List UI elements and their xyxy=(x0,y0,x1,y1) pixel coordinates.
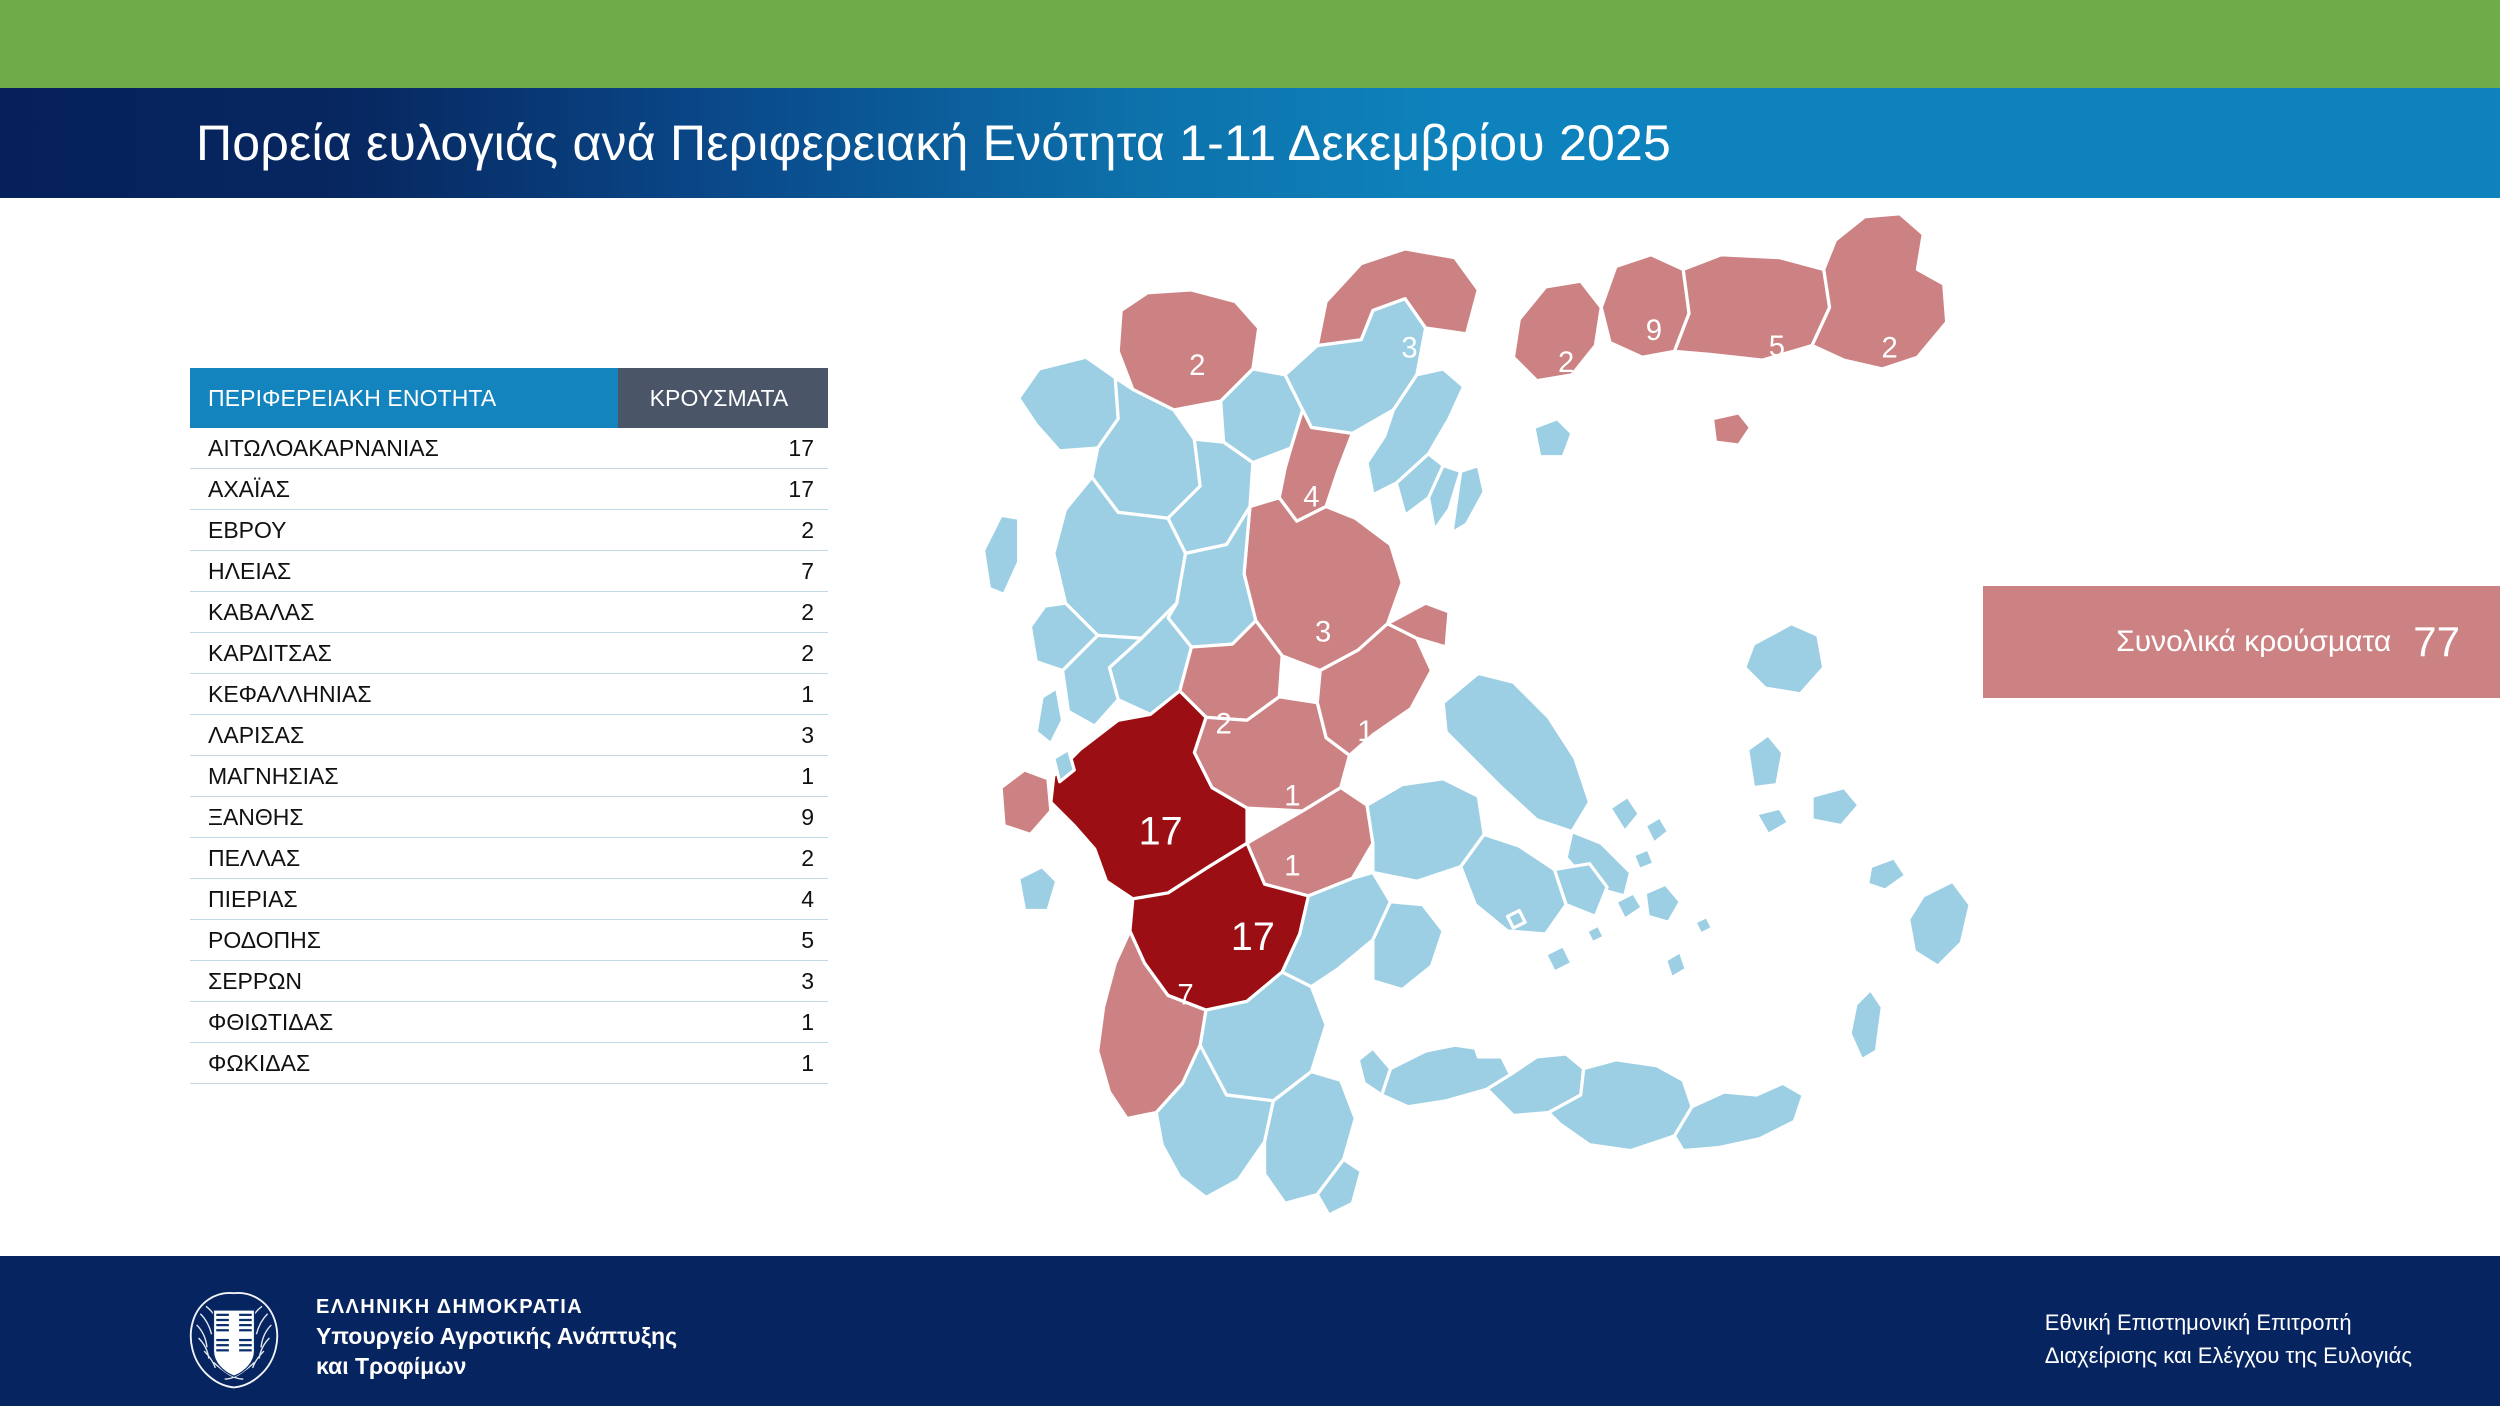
map-label-λαρισας: 3 xyxy=(1315,616,1331,648)
table-row: ΑΧΑΪΑΣ17 xyxy=(190,469,828,510)
cell-cases-count: 1 xyxy=(618,674,828,715)
table-row: ΠΙΕΡΙΑΣ4 xyxy=(190,879,828,920)
ministry-republic-line: ΕΛΛΗΝΙΚΗ ΔΗΜΟΚΡΑΤΙΑ xyxy=(316,1294,677,1321)
region-kyklades-naxos xyxy=(1645,884,1680,922)
region-kyklades-andros xyxy=(1610,796,1639,831)
map-label-σερρων: 3 xyxy=(1401,332,1417,364)
region-dodekanisou-kos xyxy=(1868,858,1906,890)
page-title: Πορεία ευλογιάς ανά Περιφερειακή Ενότητα… xyxy=(196,118,1671,168)
map-label-ξανθης: 9 xyxy=(1646,315,1662,347)
cell-region-name: ΠΙΕΡΙΑΣ xyxy=(190,879,618,920)
cell-cases-count: 1 xyxy=(618,1043,828,1084)
table-body: ΑΙΤΩΛΟΑΚΑΡΝΑΝΙΑΣ17ΑΧΑΪΑΣ17ΕΒΡΟΥ2ΗΛΕΙΑΣ7Κ… xyxy=(190,428,828,1084)
cell-region-name: ΦΩΚΙΔΑΣ xyxy=(190,1043,618,1084)
region-kyklades-paros xyxy=(1616,893,1642,919)
region-dodekanisou-rodos xyxy=(1909,881,1970,966)
table-row: ΣΕΡΡΩΝ3 xyxy=(190,961,828,1002)
ministry-branding: ΕΛΛΗΝΙΚΗ ΔΗΜΟΚΡΑΤΙΑ Υπουργείο Αγροτικής … xyxy=(178,1282,677,1394)
cell-region-name: ΦΘΙΩΤΙΔΑΣ xyxy=(190,1002,618,1043)
map-label-ροδοπης: 5 xyxy=(1769,331,1785,363)
table-row: ΞΑΝΘΗΣ9 xyxy=(190,797,828,838)
committee-text-block: Εθνική Επιστημονική Επιτροπή Διαχείρισης… xyxy=(2045,1306,2412,1372)
cell-region-name: ΚΕΦΑΛΛΗΝΙΑΣ xyxy=(190,674,618,715)
cell-cases-count: 3 xyxy=(618,715,828,756)
cell-region-name: ΕΒΡΟΥ xyxy=(190,510,618,551)
map-label-καρδιτσας: 2 xyxy=(1215,709,1231,741)
total-cases-badge: Συνολικά κρούσματα 77 xyxy=(1983,586,2500,698)
table-row: ΗΛΕΙΑΣ7 xyxy=(190,551,828,592)
greece-choropleth-map: 23295243211117177 xyxy=(930,205,2050,1215)
region-kyklades-tinos xyxy=(1645,817,1668,843)
total-cases-value: 77 xyxy=(2413,618,2460,666)
region-argolidas xyxy=(1373,902,1443,990)
region-samothraki-island xyxy=(1712,413,1750,445)
map-regions xyxy=(984,214,1971,1215)
region-rodopis xyxy=(1674,255,1829,360)
table-row: ΦΩΚΙΔΑΣ1 xyxy=(190,1043,828,1084)
region-lefkadas xyxy=(1036,688,1062,744)
cell-region-name: ΚΑΒΑΛΑΣ xyxy=(190,592,618,633)
map-label-αχαϊας: 17 xyxy=(1231,915,1275,959)
region-kyklades-syros xyxy=(1633,849,1653,869)
cell-cases-count: 5 xyxy=(618,920,828,961)
region-crete-west-tip xyxy=(1358,1048,1390,1095)
table-row: ΚΕΦΑΛΛΗΝΙΑΣ1 xyxy=(190,674,828,715)
cell-cases-count: 1 xyxy=(618,756,828,797)
ministry-name-line-1: Υπουργείο Αγροτικής Ανάπτυξης xyxy=(316,1321,677,1352)
map-label-πελλας: 2 xyxy=(1189,350,1205,382)
cell-cases-count: 2 xyxy=(618,633,828,674)
region-zakynthou xyxy=(1019,867,1057,911)
title-banner: Πορεία ευλογιάς ανά Περιφερειακή Ενότητα… xyxy=(0,88,2500,198)
region-evrou xyxy=(1812,214,1947,369)
cell-cases-count: 2 xyxy=(618,838,828,879)
cell-region-name: ΣΕΡΡΩΝ xyxy=(190,961,618,1002)
ministry-text-block: ΕΛΛΗΝΙΚΗ ΔΗΜΟΚΡΑΤΙΑ Υπουργείο Αγροτικής … xyxy=(316,1294,677,1382)
cell-region-name: ΑΙΤΩΛΟΑΚΑΡΝΑΝΙΑΣ xyxy=(190,428,618,469)
cell-cases-count: 17 xyxy=(618,469,828,510)
cell-cases-count: 2 xyxy=(618,592,828,633)
region-thasos-island xyxy=(1534,419,1572,457)
region-dodekanisou-karpathos xyxy=(1850,990,1882,1060)
cell-region-name: ΛΑΡΙΣΑΣ xyxy=(190,715,618,756)
cell-region-name: ΜΑΓΝΗΣΙΑΣ xyxy=(190,756,618,797)
region-kastoria-florina xyxy=(1019,357,1119,451)
committee-line-2: Διαχείρισης και Ελέγχου της Ευλογιάς xyxy=(2045,1339,2412,1372)
cases-table: ΠΕΡΙΦΕΡΕΙΑΚΗ ΕΝΟΤΗΤΑ ΚΡΟΥΣΜΑΤΑ ΑΙΤΩΛΟΑΚΑ… xyxy=(190,368,828,1084)
column-header-cases: ΚΡΟΥΣΜΑΤΑ xyxy=(618,368,828,428)
table-row: ΡΟΔΟΠΗΣ5 xyxy=(190,920,828,961)
cell-region-name: ΚΑΡΔΙΤΣΑΣ xyxy=(190,633,618,674)
region-kerkyras xyxy=(984,515,1019,594)
table-row: ΠΕΛΛΑΣ2 xyxy=(190,838,828,879)
table-row: ΛΑΡΙΣΑΣ3 xyxy=(190,715,828,756)
region-chanion xyxy=(1382,1045,1511,1106)
cell-region-name: ΑΧΑΪΑΣ xyxy=(190,469,618,510)
table-row: ΜΑΓΝΗΣΙΑΣ1 xyxy=(190,756,828,797)
cell-region-name: ΠΕΛΛΑΣ xyxy=(190,838,618,879)
cell-cases-count: 1 xyxy=(618,1002,828,1043)
cell-cases-count: 17 xyxy=(618,428,828,469)
region-kyklades-small-a xyxy=(1587,925,1605,943)
region-kefallinias xyxy=(1001,770,1051,834)
cases-table-panel: ΠΕΡΙΦΕΡΕΙΑΚΗ ΕΝΟΤΗΤΑ ΚΡΟΥΣΜΑΤΑ ΑΙΤΩΛΟΑΚΑ… xyxy=(190,368,828,1084)
ministry-name-line-2: και Τροφίμων xyxy=(316,1351,677,1382)
table-row: ΦΘΙΩΤΙΔΑΣ1 xyxy=(190,1002,828,1043)
cell-cases-count: 7 xyxy=(618,551,828,592)
region-samou xyxy=(1812,788,1859,826)
region-lasithiou xyxy=(1674,1083,1803,1150)
map-label-φωκιδας: 1 xyxy=(1284,851,1300,883)
table-header: ΠΕΡΙΦΕΡΕΙΑΚΗ ΕΝΟΤΗΤΑ ΚΡΟΥΣΜΑΤΑ xyxy=(190,368,828,428)
map-label-εβρου: 2 xyxy=(1881,332,1897,364)
cell-region-name: ΗΛΕΙΑΣ xyxy=(190,551,618,592)
map-svg: 23295243211117177 xyxy=(930,205,2050,1215)
table-header-row: ΠΕΡΙΦΕΡΕΙΑΚΗ ΕΝΟΤΗΤΑ ΚΡΟΥΣΜΑΤΑ xyxy=(190,368,828,428)
column-header-region: ΠΕΡΙΦΕΡΕΙΑΚΗ ΕΝΟΤΗΤΑ xyxy=(190,368,618,428)
committee-line-1: Εθνική Επιστημονική Επιτροπή xyxy=(2045,1306,2412,1339)
cell-region-name: ΞΑΝΘΗΣ xyxy=(190,797,618,838)
map-label-πιεριας: 4 xyxy=(1303,482,1319,514)
greek-republic-emblem-icon xyxy=(178,1282,290,1394)
cell-cases-count: 3 xyxy=(618,961,828,1002)
region-chiou xyxy=(1748,735,1783,788)
region-kyklades-santorini xyxy=(1666,952,1686,978)
table-row: ΚΑΒΑΛΑΣ2 xyxy=(190,592,828,633)
region-ikarias xyxy=(1756,808,1788,834)
cell-cases-count: 2 xyxy=(618,510,828,551)
cell-cases-count: 9 xyxy=(618,797,828,838)
table-row: ΑΙΤΩΛΟΑΚΑΡΝΑΝΙΑΣ17 xyxy=(190,428,828,469)
map-label-ηλειας: 7 xyxy=(1177,979,1193,1011)
map-label-αιτωλοακαρνανιας: 17 xyxy=(1139,809,1183,853)
region-kyklades-milos xyxy=(1546,946,1572,972)
total-cases-label: Συνολικά κρούσματα xyxy=(2116,625,2391,659)
region-kyklades-small-b xyxy=(1695,916,1713,934)
map-label-μαγνησιας: 1 xyxy=(1357,716,1373,748)
map-label-φθιωτιδας: 1 xyxy=(1284,780,1300,812)
map-label-καβαλας: 2 xyxy=(1558,347,1574,379)
region-lesvou xyxy=(1745,624,1824,694)
top-green-band xyxy=(0,0,2500,88)
cell-region-name: ΡΟΔΟΠΗΣ xyxy=(190,920,618,961)
cell-cases-count: 4 xyxy=(618,879,828,920)
table-row: ΕΒΡΟΥ2 xyxy=(190,510,828,551)
table-row: ΚΑΡΔΙΤΣΑΣ2 xyxy=(190,633,828,674)
